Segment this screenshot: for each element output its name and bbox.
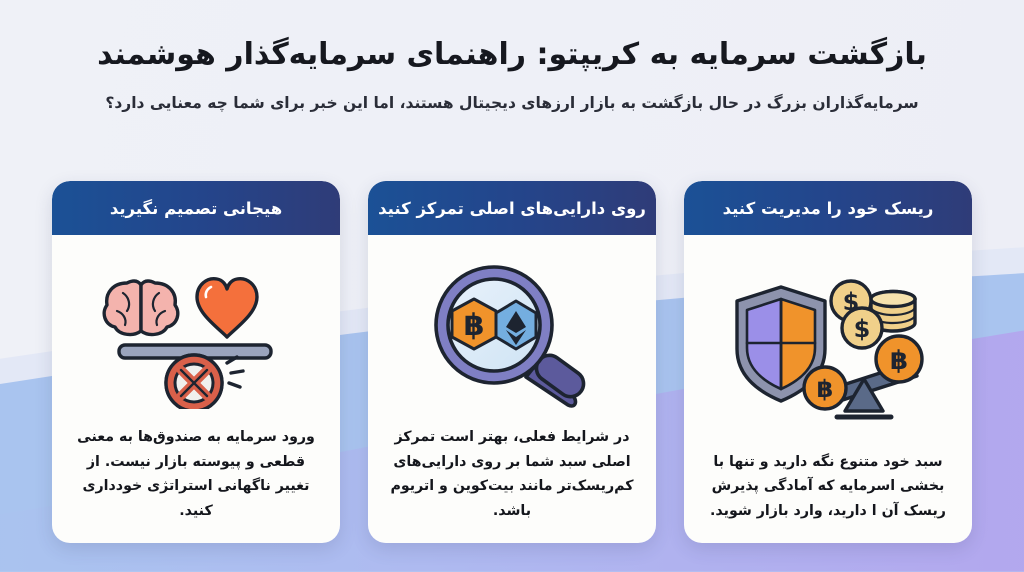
svg-text:฿: ฿ <box>464 308 485 343</box>
svg-text:$: $ <box>853 315 870 343</box>
magnifier-bitcoin-ethereum-icon: ฿ <box>368 235 656 425</box>
infographic-canvas: بازگشت سرمایه به کریپتو: راهنمای سرمایه‌… <box>0 0 1024 572</box>
card-heading: هیجانی تصمیم نگیرید <box>52 181 340 235</box>
card-focus-core-assets[interactable]: روی دارایی‌های اصلی تمرکز کنید <box>368 181 656 543</box>
svg-text:฿: ฿ <box>816 375 833 403</box>
card-body-text: سبد خود متنوع نگه دارید و تنها با بخشی ا… <box>684 450 972 543</box>
header: بازگشت سرمایه به کریپتو: راهنمای سرمایه‌… <box>0 0 1024 116</box>
brain-heart-balance-stop-icon <box>52 235 340 425</box>
cards-container: ریسک خود را مدیریت کنید <box>0 181 1024 543</box>
card-manage-risk[interactable]: ریسک خود را مدیریت کنید <box>684 181 972 543</box>
card-heading: ریسک خود را مدیریت کنید <box>684 181 972 235</box>
shield-and-balance-scale-icon: $ $ ฿ ฿ <box>684 235 972 450</box>
card-heading: روی دارایی‌های اصلی تمرکز کنید <box>368 181 656 235</box>
card-body-text: ورود سرمایه به صندوق‌ها به معنی قطعی و پ… <box>52 425 340 543</box>
card-body-text: در شرایط فعلی، بهتر است تمرکز اصلی سبد ش… <box>368 425 656 543</box>
page-title: بازگشت سرمایه به کریپتو: راهنمای سرمایه‌… <box>82 34 942 75</box>
card-avoid-emotional-decisions[interactable]: هیجانی تصمیم نگیرید <box>52 181 340 543</box>
svg-text:฿: ฿ <box>889 346 907 376</box>
page-subtitle: سرمایه‌گذاران بزرگ در حال بازگشت به بازا… <box>97 92 927 115</box>
